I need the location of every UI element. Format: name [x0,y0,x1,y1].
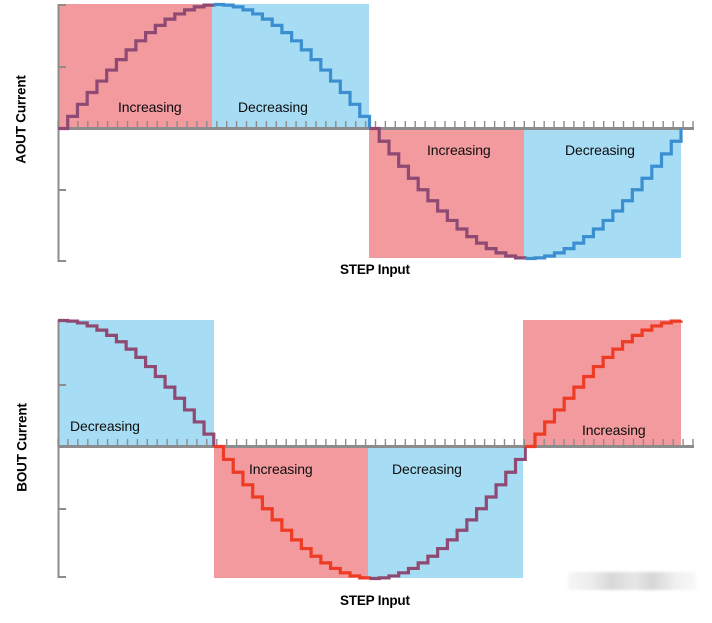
chart-aout-current: AOUT Current Increasing Decreasing Incre… [0,0,712,300]
aout-region-label-increasing-above: Increasing [118,99,182,115]
bout-region-label-decreasing-below: Decreasing [392,461,462,477]
aout-region-label-decreasing-above: Decreasing [238,99,308,115]
aout-region-label-increasing-below: Increasing [427,142,491,158]
bout-region-label-increasing-below: Increasing [249,461,313,477]
bout-region-label-increasing-above: Increasing [582,422,646,438]
blurred-watermark [568,572,696,590]
bout-x-axis-label: STEP Input [340,593,410,608]
aout-x-axis-label: STEP Input [340,262,410,277]
aout-region-label-decreasing-below: Decreasing [565,142,635,158]
bout-region-label-decreasing-above: Decreasing [70,418,140,434]
